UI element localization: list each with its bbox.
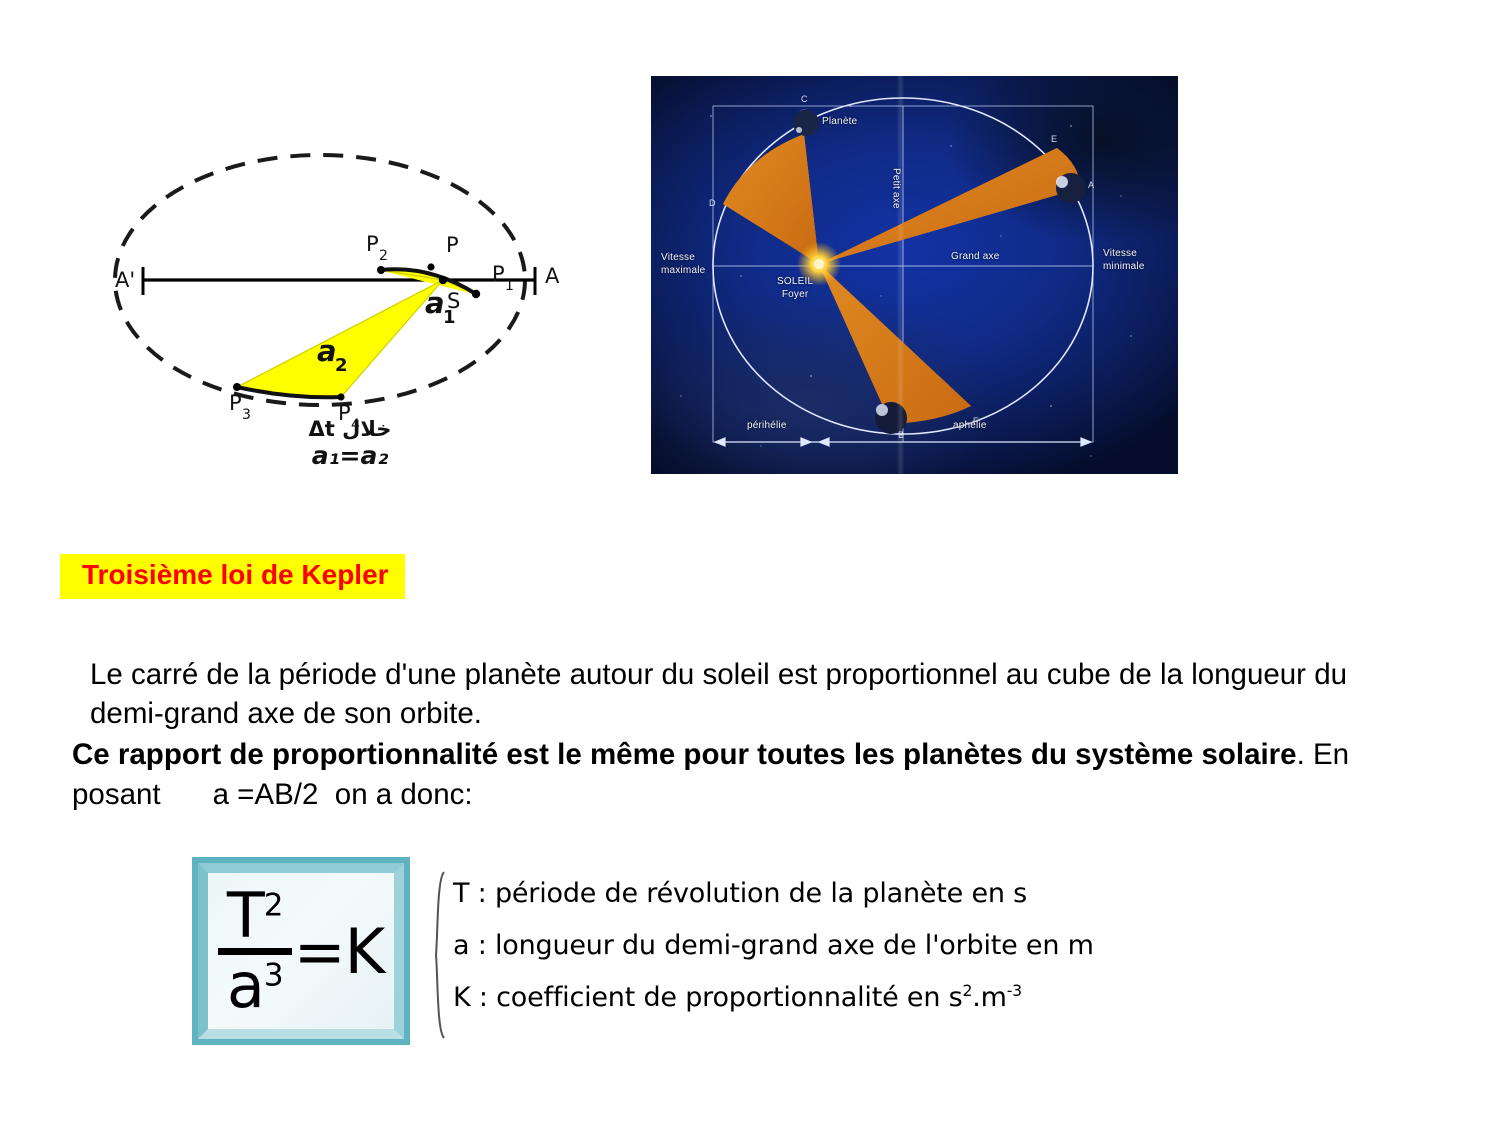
caption-equal-areas: a₁=a₂ — [240, 442, 460, 470]
label-vitesse-minimale: Vitesse minimale — [1103, 248, 1145, 273]
sector-a2-arc — [237, 280, 443, 397]
sun-core — [814, 259, 824, 269]
body-text-block: Le carré de la période d'une planète aut… — [72, 655, 1402, 814]
label-soleil: SOLEIL — [777, 276, 813, 287]
label-p2-sub: 2 — [379, 248, 388, 264]
point-p2 — [377, 266, 385, 274]
planet-top — [793, 109, 819, 136]
label-p2: P — [366, 232, 379, 256]
formula-equals-k: =K — [294, 915, 385, 988]
label-point-c: C — [801, 94, 808, 104]
label-point-d: D — [709, 198, 716, 208]
label-area-a1-sub: 1 — [443, 307, 456, 328]
slide-canvas: A' A S P 2 P P 1 P 3 P 4 a 1 a 2 Δt خلال… — [0, 0, 1500, 1125]
formula-box-inner: T2 a3 =K — [198, 863, 404, 1039]
label-grand-axe: Grand axe — [951, 251, 1000, 264]
sector-upper-left-arc — [723, 134, 819, 264]
point-p1 — [472, 290, 480, 298]
legend-lines: T : période de révolution de la planète … — [453, 868, 1094, 1023]
label-area-a1: a — [425, 286, 445, 320]
paragraph-ratio-bold: Ce rapport de proportionnalité est le mê… — [72, 738, 1297, 771]
paragraph-statement-line1: Le carré de la période d'une planète aut… — [90, 658, 1183, 691]
formula-legend: T : période de révolution de la planète … — [433, 868, 1193, 1043]
label-point-e: E — [1051, 134, 1057, 144]
legend-line-T: T : période de révolution de la planète … — [453, 868, 1094, 920]
formula-denominator: a3 — [227, 957, 283, 1015]
formula-denominator-base: a — [227, 949, 264, 1022]
formula-fraction: T2 a3 — [218, 887, 292, 1015]
legend-line-K-exp2: -3 — [1007, 981, 1022, 1000]
formula-expression: T2 a3 =K — [208, 873, 394, 1029]
formula-box-kepler-third-law: T2 a3 =K — [192, 857, 410, 1045]
photo-fold-line — [897, 76, 904, 474]
label-soleil-foyer: SOLEILFoyer — [777, 276, 813, 301]
formula-denominator-exponent: 3 — [264, 957, 283, 993]
point-p — [427, 263, 434, 270]
point-p4 — [337, 393, 344, 400]
label-p1-sub: 1 — [505, 278, 514, 294]
label-perihelie: périhélie — [747, 420, 787, 433]
label-a-prime: A' — [115, 268, 135, 292]
legend-line-K-base: K : coefficient de proportionnalité en s — [453, 982, 962, 1013]
label-p1: P — [492, 262, 505, 286]
formula-numerator: T2 — [227, 887, 283, 945]
paragraph-ratio-tail: on a donc: — [335, 778, 473, 811]
sector-right-arc — [819, 148, 1081, 264]
label-planete: Planète — [822, 116, 857, 129]
ellipse-diagram-caption: Δt خلال a₁=a₂ — [240, 418, 460, 470]
focus-point-s — [439, 276, 447, 284]
label-vitesse-maximale: Vitesse maximale — [661, 252, 705, 277]
legend-brace-icon — [433, 870, 447, 1040]
label-p3: P — [229, 391, 242, 415]
paragraph-statement: Le carré de la période d'une planète aut… — [90, 655, 1402, 733]
label-aphelie: aphélie — [953, 420, 987, 433]
paragraph-ratio-formula: a =AB/2 — [213, 778, 319, 811]
caption-delta-t: Δt خلال — [240, 418, 460, 442]
legend-line-K-exp1: 2 — [962, 981, 972, 1000]
point-p3 — [233, 383, 241, 391]
label-area-a2: a — [317, 334, 337, 368]
label-point-a: A — [1088, 180, 1094, 190]
legend-line-K-mid: .m — [972, 982, 1006, 1013]
label-petit-axe: Petit axe — [889, 168, 902, 209]
paragraph-ratio: Ce rapport de proportionnalité est le mê… — [72, 735, 1402, 813]
formula-numerator-base: T — [227, 879, 264, 952]
legend-line-a: a : longueur du demi-grand axe de l'orbi… — [453, 920, 1094, 972]
legend-line-K: K : coefficient de proportionnalité en s… — [453, 972, 1094, 1024]
planet-right — [1056, 173, 1086, 203]
kepler-orbit-photo-diagram: C D E A F B Planète Petit axe Grand axe … — [651, 76, 1178, 474]
formula-numerator-exponent: 2 — [264, 888, 283, 924]
sector-lower-arc — [819, 264, 971, 424]
section-heading-third-law: Troisième loi de Kepler — [60, 554, 405, 599]
label-p: P — [446, 233, 459, 257]
label-foyer: Foyer — [782, 289, 809, 300]
label-area-a2-sub: 2 — [335, 355, 348, 376]
label-a: A — [545, 264, 560, 288]
space-diagram-svg: C D E A F B — [651, 76, 1178, 474]
